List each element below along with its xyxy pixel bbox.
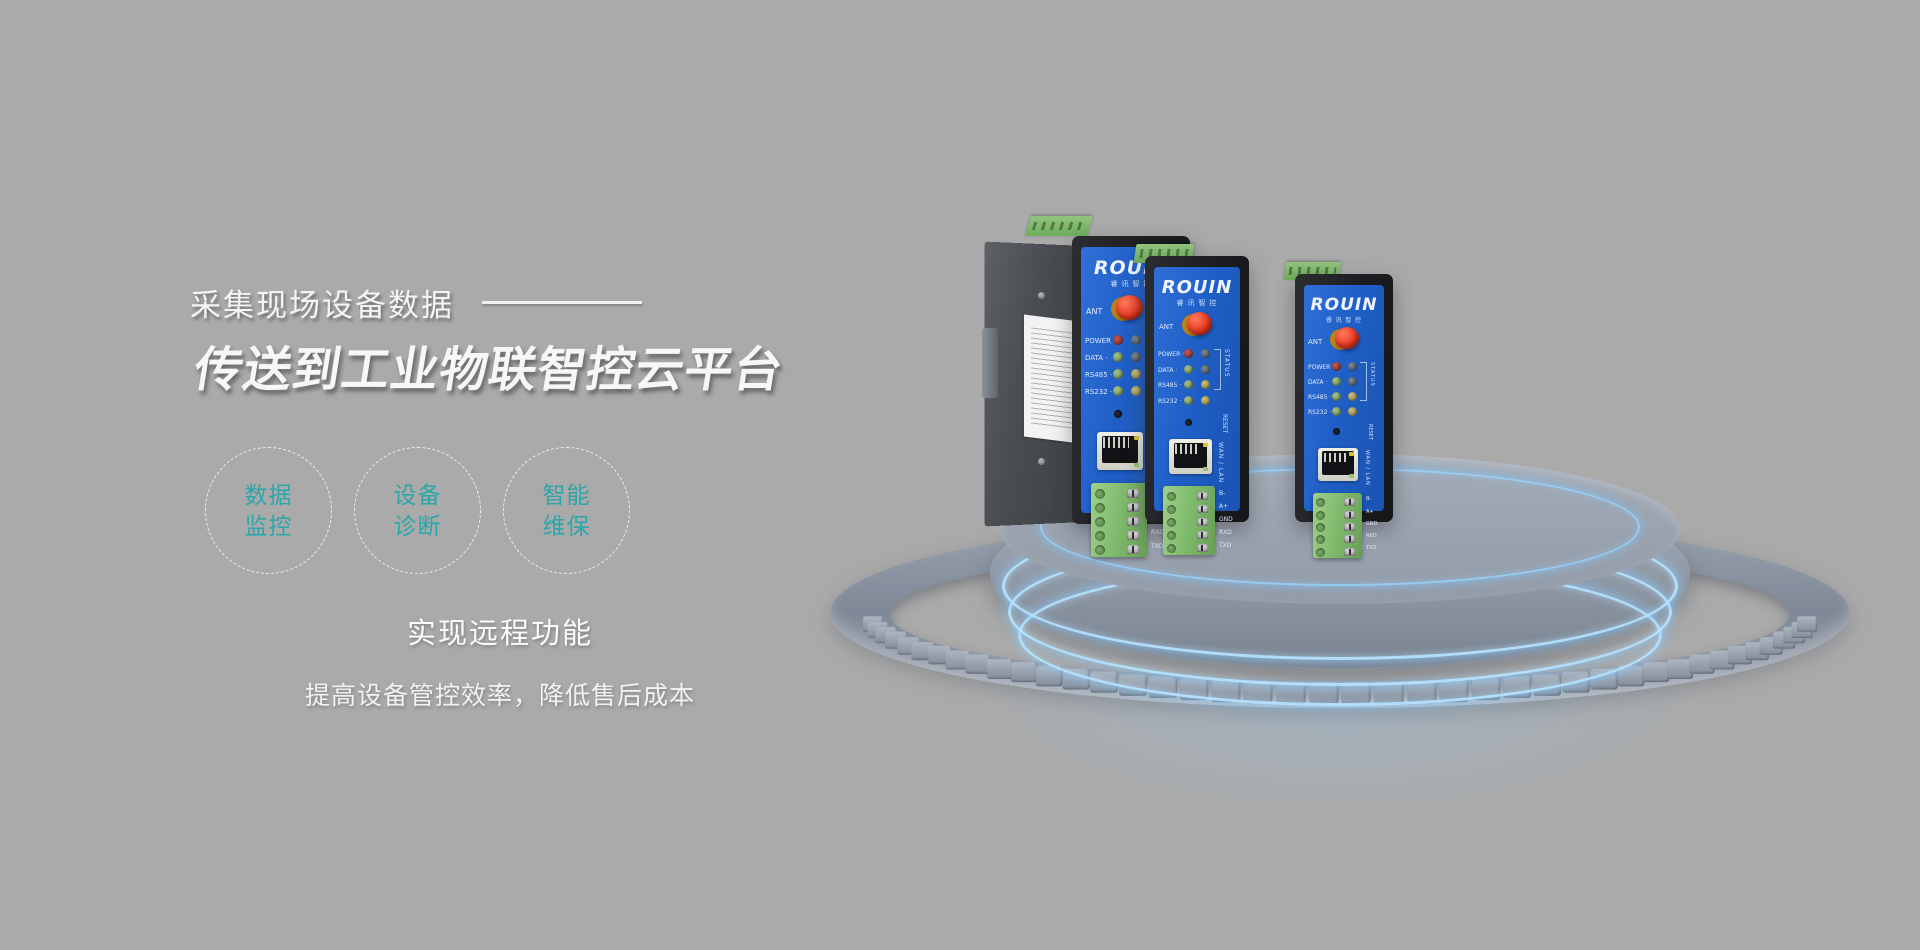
terminal-wire-hole-GND	[1095, 517, 1105, 527]
terminal-wire-hole-RXD	[1316, 535, 1325, 544]
status-led-data-a	[1332, 377, 1341, 386]
terminal-screw-TXD	[1197, 544, 1208, 552]
terminal-pin-label-A+: A+	[1366, 509, 1374, 515]
din-rail-clip	[982, 328, 998, 398]
brand-name: ROUIN	[1154, 277, 1240, 298]
feature-label-line1: 数据	[245, 480, 293, 510]
sub-title-text: 实现远程功能	[190, 610, 810, 652]
led-row-label-rs485: RS485 ·	[1308, 394, 1331, 401]
ant-label: ANT	[1308, 338, 1322, 346]
ethernet-port-rj45	[1097, 432, 1143, 470]
terminal-screw-GND	[1344, 523, 1355, 531]
terminal-wire-hole-TXD	[1095, 545, 1105, 555]
pedestal-gear-tooth	[1797, 616, 1817, 632]
rj45-link-led	[1349, 452, 1354, 456]
led-row-label-rs485: RS485 ·	[1085, 371, 1112, 379]
led-row-label-power: POWER ·	[1085, 337, 1115, 345]
terminal-wire-hole-A+	[1316, 511, 1325, 520]
terminal-screw-GND	[1127, 517, 1139, 526]
status-led-power-b	[1131, 335, 1141, 345]
terminal-screw-RXD	[1127, 531, 1139, 540]
led-row-label-rs232: RS232 ·	[1158, 398, 1181, 405]
terminal-pin-label-GND: GND	[1219, 516, 1233, 523]
status-led-rs232-b	[1348, 407, 1357, 416]
reset-button[interactable]	[1333, 428, 1340, 435]
kicker-text: 采集现场设备数据	[190, 280, 454, 325]
terminal-screw-A+	[1197, 505, 1208, 513]
pedestal-gear-tooth	[987, 659, 1013, 679]
terminal-pin-label-TXD: TXD	[1219, 542, 1231, 549]
terminal-screw-A+	[1127, 503, 1139, 512]
terminal-screw-TXD	[1344, 548, 1355, 556]
sub-copy-block: 实现远程功能 提高设备管控效率，降低售后成本	[190, 610, 810, 712]
status-led-power-b	[1348, 362, 1357, 371]
iot-gateway-device-2: ROUIN 睿 讯 智 控ANTPOWER ·DATA ·RS485 ·RS23…	[1145, 240, 1249, 528]
status-led-power-a	[1113, 335, 1123, 345]
sub-desc-text: 提高设备管控效率，降低售后成本	[190, 676, 810, 712]
feature-label-line1: 智能	[543, 480, 591, 510]
reset-label: RESET	[1367, 424, 1373, 440]
device-front-face: ROUIN 睿 讯 智 控ANTPOWER ·DATA ·RS485 ·RS23…	[1154, 267, 1240, 511]
terminal-pin-label-RXD: RXD	[1219, 529, 1232, 536]
status-led-rs232-a	[1113, 386, 1123, 396]
feature-circle-device-diagnosis[interactable]: 设备 诊断	[354, 447, 481, 574]
screw-terminal-block	[1091, 483, 1147, 557]
terminal-screw-B-	[1127, 489, 1139, 498]
status-led-rs232-a	[1184, 396, 1193, 405]
ant-label: ANT	[1159, 323, 1173, 331]
copy-block: 采集现场设备数据 传送到工业物联智控云平台	[190, 280, 950, 400]
terminal-wire-hole-A+	[1095, 503, 1105, 513]
feature-label-line2: 诊断	[394, 511, 442, 541]
led-row-label-data: DATA ·	[1308, 379, 1327, 386]
terminal-pin-label-RXD: RXD	[1366, 533, 1377, 539]
antenna-cap-knob	[1187, 312, 1212, 335]
led-bracket	[1360, 362, 1367, 401]
led-bracket	[1214, 349, 1221, 390]
wan-lan-label: WAN / LAN	[1217, 442, 1224, 483]
terminal-wire-hole-RXD	[1167, 531, 1176, 540]
terminal-wire-hole-TXD	[1316, 548, 1325, 557]
antenna-cap-knob	[1116, 295, 1143, 320]
feature-circle-data-monitoring[interactable]: 数据 监控	[205, 447, 332, 574]
antenna-cap-knob	[1335, 327, 1359, 349]
status-led-rs485-a	[1113, 369, 1123, 379]
terminal-wire-hole-GND	[1316, 523, 1325, 532]
terminal-pin-label-TXD: TXD	[1151, 543, 1163, 550]
status-label: STATUS	[1223, 349, 1230, 378]
status-label: STATUS	[1369, 362, 1375, 387]
terminal-screw-TXD	[1127, 545, 1139, 554]
terminal-screw-A+	[1344, 511, 1355, 519]
status-led-power-a	[1184, 349, 1193, 358]
device-side-screw	[1038, 292, 1045, 299]
status-led-rs485-a	[1332, 392, 1341, 401]
reset-label: RESET	[1221, 414, 1228, 433]
led-row-label-data: DATA ·	[1158, 367, 1177, 374]
terminal-screw-B-	[1197, 492, 1208, 500]
terminal-wire-hole-RXD	[1095, 531, 1105, 541]
terminal-wire-hole-B-	[1316, 498, 1325, 507]
status-led-rs485-b	[1348, 392, 1357, 401]
pedestal-gear-tooth	[1643, 662, 1669, 682]
rj45-pins	[1175, 444, 1199, 454]
screw-terminal-block	[1313, 493, 1362, 558]
status-led-rs485-b	[1131, 369, 1141, 379]
terminal-wire-hole-B-	[1167, 492, 1176, 501]
reset-button[interactable]	[1185, 419, 1192, 426]
rj45-pins	[1324, 453, 1346, 462]
screw-terminal-block	[1163, 486, 1215, 555]
terminal-pin-label-A+: A+	[1219, 503, 1228, 510]
wan-lan-label: WAN / LAN	[1364, 450, 1370, 486]
terminal-screw-RXD	[1197, 531, 1208, 539]
headline-text: 传送到工业物联智控云平台	[190, 330, 961, 400]
led-row-label-rs485: RS485 ·	[1158, 382, 1181, 389]
brand-logo: ROUIN 睿 讯 智 控	[1154, 277, 1240, 308]
status-led-power-b	[1201, 349, 1210, 358]
ant-label: ANT	[1086, 307, 1102, 316]
terminal-screw-RXD	[1344, 535, 1355, 543]
top-power-connector	[1025, 216, 1093, 236]
reset-button[interactable]	[1114, 410, 1122, 418]
rj45-pins	[1103, 437, 1128, 448]
terminal-wire-hole-B-	[1095, 489, 1105, 499]
rj45-act-led	[1134, 463, 1139, 467]
feature-circle-smart-maintenance[interactable]: 智能 维保	[503, 447, 630, 574]
terminal-pin-label-B-: B-	[1219, 490, 1225, 497]
terminal-pin-label-GND: GND	[1366, 521, 1377, 527]
device-front-face: ROUIN 睿 讯 智 控ANTPOWER ·DATA ·RS485 ·RS23…	[1304, 285, 1384, 511]
status-led-rs485-a	[1184, 380, 1193, 389]
ethernet-port-rj45	[1169, 439, 1212, 474]
rj45-link-led	[1203, 443, 1208, 447]
brand-logo: ROUIN 睿 讯 智 控	[1304, 295, 1384, 324]
terminal-pin-label-RXD: RXD	[1151, 529, 1164, 536]
status-led-data-b	[1348, 377, 1357, 386]
led-row-label-power: POWER ·	[1308, 364, 1334, 371]
feature-label-line1: 设备	[394, 480, 442, 510]
feature-circle-row: 数据 监控 设备 诊断 智能 维保	[205, 447, 630, 574]
status-led-data-b	[1131, 352, 1141, 362]
rj45-act-led	[1203, 467, 1208, 471]
feature-label-line2: 维保	[543, 511, 591, 541]
brand-subtitle: 睿 讯 智 控	[1154, 298, 1240, 308]
product-scene: ROUIN 睿 讯 智 控ANTPOWER ·DATA ·RS485 ·RS23…	[980, 210, 1700, 770]
terminal-screw-B-	[1344, 498, 1355, 506]
brand-name: ROUIN	[1304, 295, 1384, 315]
device-side-screw	[1038, 458, 1045, 465]
terminal-pin-label-TXD: TXD	[1366, 545, 1376, 551]
terminal-wire-hole-A+	[1167, 505, 1176, 514]
pedestal-gear-tooth	[1011, 662, 1037, 682]
led-row-label-power: POWER ·	[1158, 351, 1184, 358]
device-front-frame: ROUIN 睿 讯 智 控ANTPOWER ·DATA ·RS485 ·RS23…	[1295, 274, 1393, 522]
ethernet-port-rj45	[1318, 448, 1358, 481]
kicker-rule	[482, 301, 642, 304]
status-led-data-a	[1113, 352, 1123, 362]
iot-gateway-device-3: ROUIN 睿 讯 智 控ANTPOWER ·DATA ·RS485 ·RS23…	[1295, 258, 1393, 528]
rj45-link-led	[1134, 436, 1139, 440]
terminal-screw-GND	[1197, 518, 1208, 526]
status-led-rs232-a	[1332, 407, 1341, 416]
brand-subtitle: 睿 讯 智 控	[1304, 315, 1384, 324]
rj45-act-led	[1349, 474, 1354, 478]
feature-label-line2: 监控	[245, 511, 293, 541]
terminal-wire-hole-GND	[1167, 518, 1176, 527]
led-row-label-data: DATA ·	[1085, 354, 1107, 362]
status-led-rs232-b	[1131, 386, 1141, 396]
status-led-rs485-b	[1201, 380, 1210, 389]
terminal-pin-label-B-: B-	[1366, 496, 1371, 502]
led-row-label-rs232: RS232 ·	[1308, 409, 1331, 416]
status-led-power-a	[1332, 362, 1341, 371]
kicker-row: 采集现场设备数据	[190, 280, 950, 324]
led-row-label-rs232: RS232 ·	[1085, 388, 1112, 396]
device-front-frame: ROUIN 睿 讯 智 控ANTPOWER ·DATA ·RS485 ·RS23…	[1145, 256, 1249, 522]
terminal-wire-hole-TXD	[1167, 544, 1176, 553]
hero-banner: 采集现场设备数据 传送到工业物联智控云平台 数据 监控 设备 诊断 智能 维保 …	[0, 0, 1920, 950]
status-led-rs232-b	[1201, 396, 1210, 405]
status-led-data-b	[1201, 365, 1210, 374]
status-led-data-a	[1184, 365, 1193, 374]
